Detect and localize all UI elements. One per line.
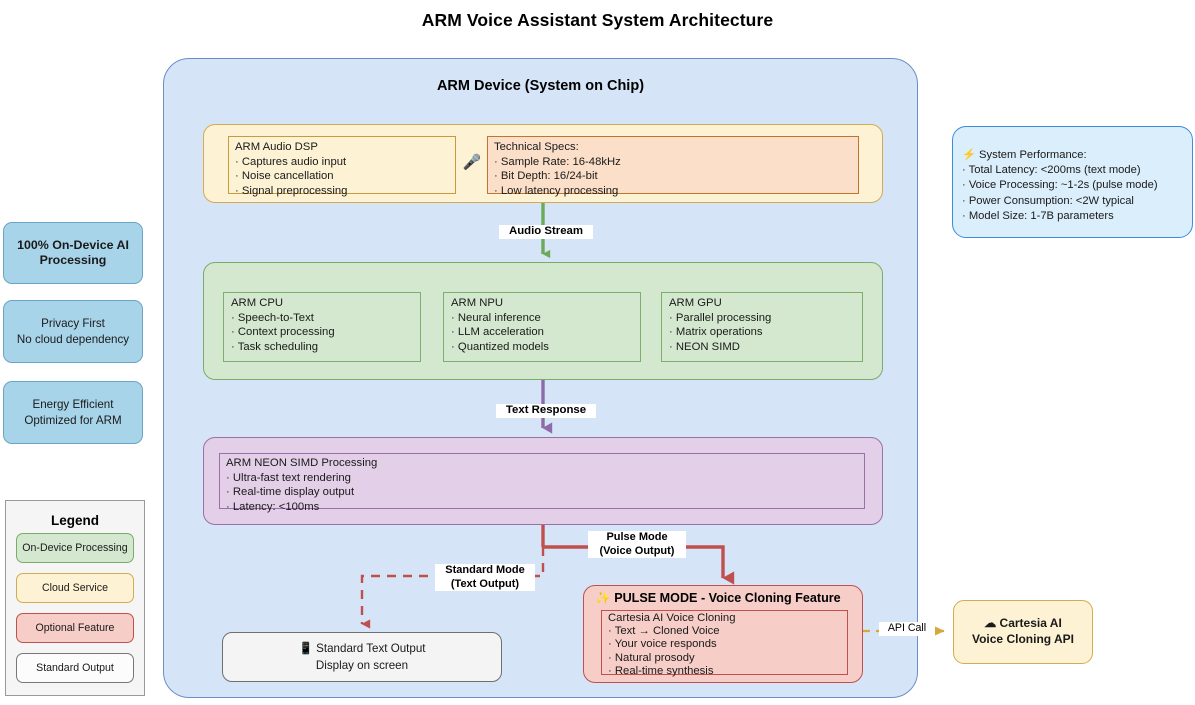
arm-audio-dsp-item: · Noise cancellation (235, 169, 455, 184)
arm-gpu-header: ARM GPU (669, 296, 862, 311)
badge-on-device-ai-line1: 100% On-Device AI (17, 238, 129, 254)
technical-specs-item: · Low latency processing (494, 184, 858, 199)
cartesia-cloning-header: Cartesia AI Voice Cloning (608, 612, 847, 625)
system-performance-body: ⚡ System Performance: · Total Latency: <… (962, 148, 1188, 224)
cartesia-cloning-item: · Your voice responds (608, 638, 847, 651)
arm-npu-box: ARM NPU · Neural inference · LLM acceler… (443, 292, 641, 362)
cartesia-voice-cloning-box: Cartesia AI Voice Cloning · Text → Clone… (601, 610, 848, 675)
system-performance-item: · Model Size: 1-7B parameters (962, 209, 1188, 224)
edge-label-api-call: API Call (879, 622, 935, 636)
technical-specs-box: Technical Specs: · Sample Rate: 16-48kHz… (487, 136, 859, 194)
badge-energy-efficient-line1: Energy Efficient (24, 397, 121, 413)
cartesia-api-line1: Cartesia AI (1000, 616, 1062, 630)
arm-npu-item: · LLM acceleration (451, 325, 640, 340)
arm-gpu-item: · Parallel processing (669, 311, 862, 326)
edge-label-standard-mode: Standard Mode (Text Output) (435, 564, 535, 591)
standard-text-output-label: 📱 Standard Text Output Display on screen (222, 641, 502, 674)
cartesia-api-line2: Voice Cloning API (953, 631, 1093, 647)
arm-neon-item: · Real-time display output (226, 485, 864, 500)
system-performance-item: · Voice Processing: ~1-2s (pulse mode) (962, 178, 1188, 193)
legend-item-standard-output: Standard Output (16, 653, 134, 683)
page-title: ARM Voice Assistant System Architecture (0, 10, 1195, 31)
arm-cpu-item: · Context processing (231, 325, 420, 340)
cloud-icon: ☁ (984, 616, 996, 630)
arm-npu-header: ARM NPU (451, 296, 640, 311)
arm-cpu-header: ARM CPU (231, 296, 420, 311)
cartesia-api-label: ☁ Cartesia AI Voice Cloning API (953, 615, 1093, 647)
cartesia-cloning-item: · Real-time synthesis (608, 665, 847, 678)
edge-label-text-response: Text Response (496, 404, 596, 418)
edge-label-standard-mode-line2: (Text Output) (438, 578, 532, 592)
badge-energy-efficient: Energy Efficient Optimized for ARM (3, 381, 143, 444)
arm-device-title: ARM Device (System on Chip) (163, 78, 918, 94)
arm-npu-item: · Neural inference (451, 311, 640, 326)
badge-on-device-ai-line2: Processing (17, 253, 129, 269)
mobile-device-icon: 📱 (298, 642, 312, 655)
arm-gpu-item: · NEON SIMD (669, 340, 862, 355)
technical-specs-item: · Sample Rate: 16-48kHz (494, 155, 858, 170)
legend-title: Legend (5, 513, 145, 528)
edge-label-standard-mode-line1: Standard Mode (438, 564, 532, 578)
lightning-bolt-icon: ⚡ (962, 149, 976, 161)
arm-audio-dsp-item: · Captures audio input (235, 155, 455, 170)
edge-label-audio-stream: Audio Stream (499, 225, 593, 239)
arm-cpu-box: ARM CPU · Speech-to-Text · Context proce… (223, 292, 421, 362)
edge-label-pulse-mode-line2: (Voice Output) (591, 545, 683, 559)
cartesia-cloning-item: · Natural prosody (608, 652, 847, 665)
badge-energy-efficient-line2: Optimized for ARM (24, 413, 121, 429)
arm-neon-item: · Ultra-fast text rendering (226, 471, 864, 486)
system-performance-item: · Total Latency: <200ms (text mode) (962, 163, 1188, 178)
arm-audio-dsp-header: ARM Audio DSP (235, 140, 455, 155)
arm-neon-header: ARM NEON SIMD Processing (226, 456, 864, 471)
system-performance-item: · Power Consumption: <2W typical (962, 194, 1188, 209)
system-performance-header: System Performance: (979, 149, 1087, 161)
arm-npu-item: · Quantized models (451, 340, 640, 355)
arm-audio-dsp-item: · Signal preprocessing (235, 184, 455, 199)
microphone-icon: 🎤 (461, 152, 483, 174)
pulse-mode-title: PULSE MODE - Voice Cloning Feature (614, 591, 840, 605)
arm-neon-simd-box: ARM NEON SIMD Processing · Ultra-fast te… (219, 453, 865, 509)
arm-cpu-item: · Task scheduling (231, 340, 420, 355)
badge-on-device-ai: 100% On-Device AI Processing (3, 222, 143, 284)
edge-label-pulse-mode: Pulse Mode (Voice Output) (588, 531, 686, 558)
standard-output-line2: Display on screen (222, 658, 502, 675)
arm-gpu-item: · Matrix operations (669, 325, 862, 340)
badge-privacy-first-line1: Privacy First (17, 316, 129, 332)
legend-item-cloud-service: Cloud Service (16, 573, 134, 603)
arm-neon-item: · Latency: <100ms (226, 500, 864, 515)
arm-cpu-item: · Speech-to-Text (231, 311, 420, 326)
sparkles-icon: ✨ (595, 591, 611, 605)
badge-privacy-first-line2: No cloud dependency (17, 332, 129, 348)
technical-specs-item: · Bit Depth: 16/24-bit (494, 169, 858, 184)
edge-label-pulse-mode-line1: Pulse Mode (591, 531, 683, 545)
legend-item-on-device-processing: On-Device Processing (16, 533, 134, 563)
technical-specs-header: Technical Specs: (494, 140, 858, 155)
pulse-mode-title-row: ✨ PULSE MODE - Voice Cloning Feature (595, 590, 857, 607)
arm-gpu-box: ARM GPU · Parallel processing · Matrix o… (661, 292, 863, 362)
badge-privacy-first: Privacy First No cloud dependency (3, 300, 143, 363)
legend-item-optional-feature: Optional Feature (16, 613, 134, 643)
standard-output-line1: Standard Text Output (316, 642, 425, 655)
cartesia-cloning-item: · Text → Cloned Voice (608, 625, 847, 638)
arm-audio-dsp-box: ARM Audio DSP · Captures audio input · N… (228, 136, 456, 194)
